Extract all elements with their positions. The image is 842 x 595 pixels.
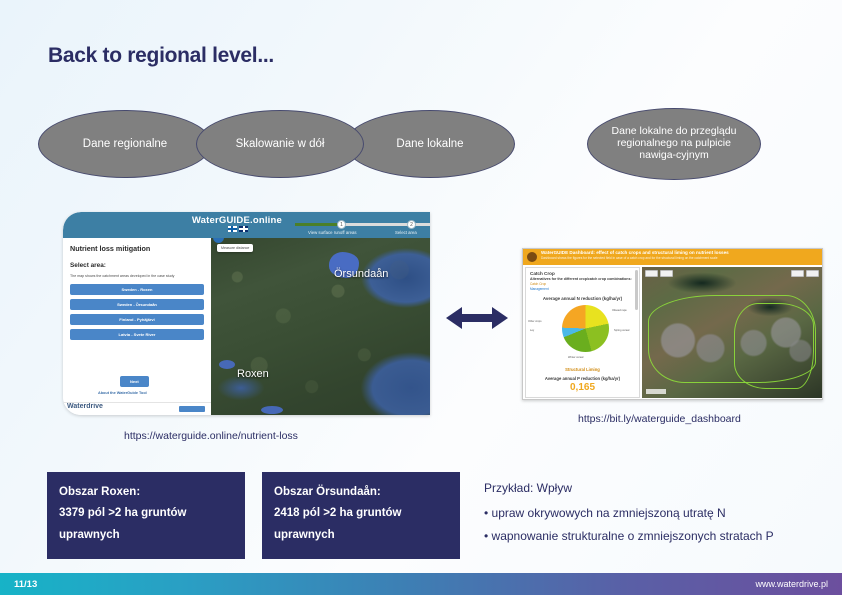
dashboard-subhead-structural-liming: Structural Liming — [526, 367, 639, 372]
map-tool-fullscreen-icon[interactable] — [806, 270, 819, 277]
double-arrow-icon — [446, 303, 508, 333]
app-brand: WaterGUIDE.online — [192, 215, 282, 226]
step-label-1: View surface runoff areas — [308, 230, 357, 235]
info-box-orsundaan: Obszar Örsundaån: 2418 pól >2 ha gruntów… — [262, 472, 460, 559]
step-progress: 1 2 3 View surface runoff areas Select a… — [295, 217, 430, 237]
flow-ellipse-label: Dane regionalne — [83, 138, 167, 151]
info-box-heading: Obszar Örsundaån: — [274, 482, 448, 503]
map-label-orsundaan: Örsundaån — [334, 268, 388, 280]
map-toolbar-right[interactable] — [791, 270, 819, 277]
lake-shape-west — [219, 360, 235, 369]
info-box-line1: 3379 pól >2 ha gruntów — [59, 503, 233, 524]
pie-chart-graphic — [562, 305, 609, 352]
slide-footer: 11/13 www.waterdrive.pl — [0, 573, 842, 595]
flow-ellipse-dane-regionalne: Dane regionalne — [38, 110, 212, 178]
satellite-map[interactable]: Measure distance ⌕ Örsundaån Roxen — [211, 238, 430, 415]
uk-flag-icon[interactable] — [239, 226, 248, 232]
flow-ellipse-label: Skalowanie w dół — [236, 138, 325, 151]
lake-shape-south — [261, 406, 283, 414]
waterguide-online-screenshot: WaterGUIDE.online 1 2 3 View surface run… — [63, 212, 430, 415]
map-tool-zoom-icon[interactable] — [791, 270, 804, 277]
step-dot-2[interactable]: 2 — [407, 220, 416, 229]
dashboard-link-management[interactable]: Management — [526, 286, 639, 291]
info-box-line2: uprawnych — [274, 525, 448, 546]
step-dot-1[interactable]: 1 — [337, 220, 346, 229]
flow-ellipse-dane-lokalne-dashboard: Dane lokalne do przeglądu regionalnego n… — [587, 108, 761, 180]
page-indicator: 11/13 — [14, 579, 37, 590]
catchment-boundary-east — [734, 303, 814, 389]
map-tool-select-icon[interactable] — [660, 270, 673, 277]
pie-slice-label-1: Oilseed rape — [612, 309, 627, 312]
dashboard-logo-icon — [527, 252, 537, 262]
dashboard-side-panel: Catch Crop Alternatives for the differen… — [525, 267, 640, 398]
pie-slice-label-4: Ley — [530, 329, 534, 332]
app-header-bar: WaterGUIDE.online 1 2 3 View surface run… — [63, 212, 430, 238]
footer-url[interactable]: www.waterdrive.pl — [755, 579, 828, 589]
info-box-heading: Obszar Roxen: — [59, 482, 233, 503]
metric-value: 0,165 — [526, 382, 639, 393]
area-button-svete[interactable]: Latvia - Svete River — [70, 329, 204, 340]
dashboard-section-subtitle: Alternatives for the different crop/catc… — [526, 276, 639, 281]
area-button-roxen[interactable]: Sweden - Roxen — [70, 284, 204, 295]
measure-distance-button[interactable]: Measure distance — [217, 244, 253, 252]
slide-canvas: Back to regional level... Dane regionaln… — [0, 0, 842, 595]
language-flags[interactable] — [228, 226, 248, 232]
dashboard-subtitle: Dashboard shows the figures for the sele… — [541, 256, 822, 260]
pie-chart: Oilseed rape Spring cereal Winter cereal… — [526, 303, 640, 365]
panel-note: The map shows the catchment areas develo… — [70, 274, 204, 278]
nutrient-loss-panel: Nutrient loss mitigation Select area: Th… — [63, 238, 211, 415]
app-footer: Waterdrive — [63, 402, 211, 415]
map-terrain-texture — [211, 238, 430, 415]
example-bullet-2: • wapnowanie strukturalne o zmniejszonyc… — [484, 525, 834, 548]
example-bullet-1: • upraw okrywowych na zmniejszoną utratę… — [484, 502, 834, 525]
next-button[interactable]: Next — [120, 376, 149, 387]
flow-ellipse-skalowanie-w-dol: Skalowanie w dół — [196, 110, 364, 178]
pie-slice-label-2: Spring cereal — [614, 329, 629, 332]
example-text-block: Przykład: Wpływ • upraw okrywowych na zm… — [484, 477, 834, 547]
info-box-roxen: Obszar Roxen: 3379 pól >2 ha gruntów upr… — [47, 472, 245, 559]
pie-chart-title: Average annual N reduction (kg/ha/yr) — [526, 296, 639, 301]
app-footer-text: Waterdrive — [67, 403, 103, 410]
map-scale-bar — [646, 389, 666, 394]
area-button-pyhajarvi[interactable]: Finland - Pyhäjärvi — [70, 314, 204, 325]
metric-title: Average annual P reduction (kg/ha/yr) — [526, 376, 639, 381]
flow-ellipse-label: Dane lokalne do przeglądu regionalnego n… — [598, 126, 750, 161]
waterguide-dashboard-screenshot: WaterGUIDE Dashboard: effect of catch cr… — [522, 248, 823, 400]
dashboard-satellite-map[interactable] — [642, 267, 822, 398]
flow-ellipse-dane-lokalne: Dane lokalne — [345, 110, 515, 178]
dashboard-section-title: Catch Crop — [526, 268, 639, 276]
info-box-line1: 2418 pól >2 ha gruntów — [274, 503, 448, 524]
info-box-line2: uprawnych — [59, 525, 233, 546]
caption-left-url[interactable]: https://waterguide.online/nutrient-loss — [124, 430, 298, 442]
map-label-roxen: Roxen — [237, 368, 269, 380]
progress-fill — [295, 223, 340, 226]
example-lead: Przykład: Wpływ — [484, 477, 834, 500]
dashboard-title: WaterGUIDE Dashboard: effect of catch cr… — [541, 250, 822, 255]
page-title: Back to regional level... — [48, 44, 274, 68]
caption-right-url[interactable]: https://bit.ly/waterguide_dashboard — [578, 413, 741, 425]
step-label-2: Select area — [395, 230, 417, 235]
panel-subtitle: Select area: — [70, 262, 204, 269]
area-button-orsundaan[interactable]: Sweden - Örsundaån — [70, 299, 204, 310]
map-tool-layers-icon[interactable] — [645, 270, 658, 277]
about-link[interactable]: About the WaterGuide Tool — [98, 391, 147, 395]
finland-flag-icon[interactable] — [228, 226, 237, 232]
pie-slice-label-5: Other crops — [528, 320, 542, 323]
panel-title: Nutrient loss mitigation — [70, 244, 204, 253]
app-footer-button[interactable] — [179, 406, 205, 412]
flow-ellipse-label: Dane lokalne — [396, 138, 463, 151]
map-toolbar-left[interactable] — [645, 270, 673, 277]
pie-slice-label-3: Winter cereal — [568, 356, 583, 359]
dashboard-header-bar: WaterGUIDE Dashboard: effect of catch cr… — [523, 249, 822, 265]
